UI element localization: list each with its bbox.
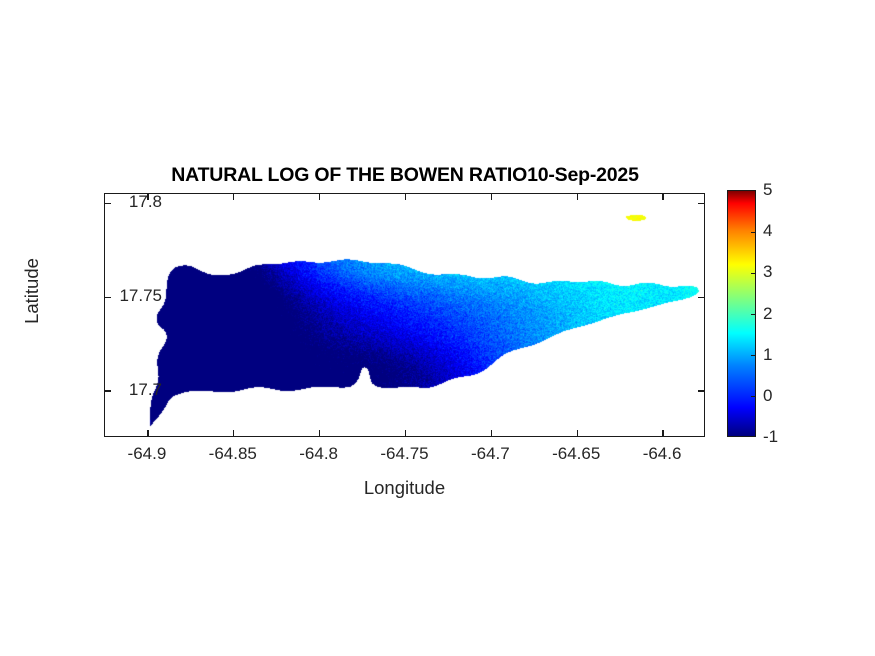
x-tick-mark — [662, 430, 663, 436]
x-tick-label: -64.65 — [552, 444, 600, 464]
colorbar-tick-label: 0 — [763, 386, 772, 406]
y-tick-mark — [698, 203, 704, 204]
x-tick-mark — [577, 430, 578, 436]
x-tick-mark — [319, 430, 320, 436]
x-tick-mark — [147, 430, 148, 436]
colorbar-tick-mark — [751, 314, 756, 315]
chart-title: NATURAL LOG OF THE BOWEN RATIO10-Sep-202… — [104, 164, 706, 187]
colorbar-tick-label: 1 — [763, 345, 772, 365]
x-tick-label: -64.8 — [299, 444, 338, 464]
colorbar-tick-label: 4 — [763, 221, 772, 241]
y-tick-label: 17.75 — [119, 286, 162, 306]
x-tick-mark — [405, 194, 406, 200]
x-tick-mark — [491, 430, 492, 436]
colorbar-tick-mark — [751, 355, 756, 356]
y-tick-mark — [698, 390, 704, 391]
x-tick-label: -64.9 — [128, 444, 167, 464]
y-tick-label: 17.8 — [129, 192, 162, 212]
x-tick-mark — [577, 194, 578, 200]
x-tick-mark — [233, 194, 234, 200]
x-tick-label: -64.6 — [643, 444, 682, 464]
x-axis-label: Longitude — [104, 477, 705, 499]
x-tick-mark — [405, 430, 406, 436]
colorbar-tick-label: 2 — [763, 304, 772, 324]
y-axis-label: Latitude — [21, 231, 43, 351]
y-tick-mark — [105, 390, 111, 391]
colorbar-tick-label: 5 — [763, 180, 772, 200]
map-axes[interactable] — [104, 193, 705, 437]
colorbar-tick-label: 3 — [763, 262, 772, 282]
x-tick-mark — [233, 430, 234, 436]
y-tick-mark — [105, 297, 111, 298]
y-tick-label: 17.7 — [129, 380, 162, 400]
colorbar-tick-mark — [751, 273, 756, 274]
x-tick-label: -64.85 — [209, 444, 257, 464]
x-tick-label: -64.75 — [380, 444, 428, 464]
colorbar[interactable] — [727, 190, 756, 437]
x-tick-mark — [319, 194, 320, 200]
matlab-figure: NATURAL LOG OF THE BOWEN RATIO10-Sep-202… — [0, 0, 875, 656]
colorbar-tick-mark — [751, 232, 756, 233]
y-tick-mark — [698, 297, 704, 298]
bowen-ratio-heatmap — [105, 194, 705, 437]
x-tick-mark — [491, 194, 492, 200]
x-tick-mark — [662, 194, 663, 200]
x-tick-label: -64.7 — [471, 444, 510, 464]
colorbar-tick-label: -1 — [763, 427, 778, 447]
y-tick-mark — [105, 203, 111, 204]
colorbar-tick-mark — [751, 396, 756, 397]
